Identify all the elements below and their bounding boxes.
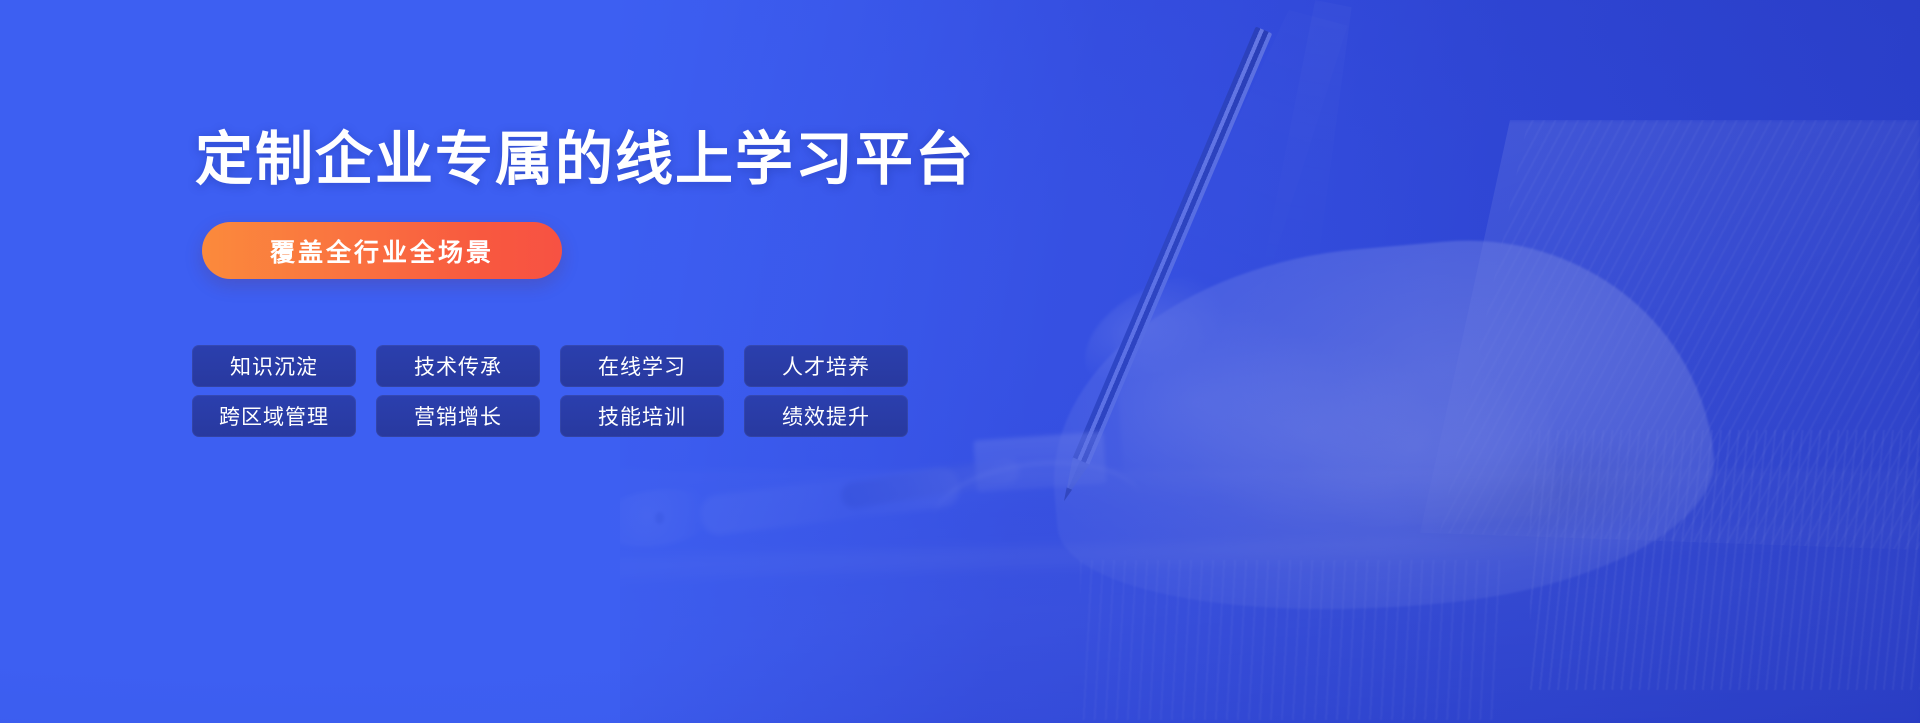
tag-chip-knowledge[interactable]: 知识沉淀 [192,345,356,387]
tag-row-1: 知识沉淀 技术传承 在线学习 人才培养 [192,345,908,387]
hero-content: 定制企业专属的线上学习平台 覆盖全行业全场景 知识沉淀 技术传承 在线学习 人才… [192,0,1092,723]
tag-chip-cross-region-management[interactable]: 跨区域管理 [192,395,356,437]
tag-row-2: 跨区域管理 营销增长 技能培训 绩效提升 [192,395,908,437]
tag-list: 知识沉淀 技术传承 在线学习 人才培养 跨区域管理 营销增长 技能培训 绩效提升 [192,345,908,437]
page-title: 定制企业专属的线上学习平台 [195,128,975,192]
tag-chip-performance-improvement[interactable]: 绩效提升 [744,395,908,437]
tag-chip-marketing-growth[interactable]: 营销增长 [376,395,540,437]
tag-chip-talent-development[interactable]: 人才培养 [744,345,908,387]
tag-chip-online-learning[interactable]: 在线学习 [560,345,724,387]
tag-chip-tech-inheritance[interactable]: 技术传承 [376,345,540,387]
hero-banner: 定制企业专属的线上学习平台 覆盖全行业全场景 知识沉淀 技术传承 在线学习 人才… [0,0,1920,723]
cta-button[interactable]: 覆盖全行业全场景 [202,222,562,279]
tag-chip-skills-training[interactable]: 技能培训 [560,395,724,437]
